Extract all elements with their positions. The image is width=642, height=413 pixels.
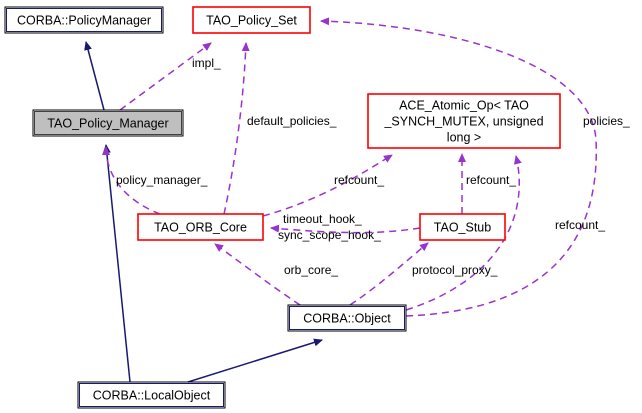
- edge-label-refcount-right: refcount_: [555, 218, 605, 232]
- edge-label-policies: policies_: [583, 114, 630, 128]
- edge-impl: [120, 43, 211, 110]
- node-label-policymanager: CORBA::PolicyManager: [17, 13, 151, 27]
- edge-label-orb-core: orb_core_: [284, 263, 338, 277]
- edge-localobject-to-object: [188, 340, 322, 382]
- edge-label-impl: impl_: [192, 56, 221, 70]
- node-policymanager[interactable]: CORBA::PolicyManager: [5, 7, 163, 33]
- node-label-localobject: CORBA::LocalObject: [93, 388, 211, 402]
- node-label-atomicop-line3: long >: [447, 130, 481, 144]
- node-label-policymgr: TAO_Policy_Manager: [47, 116, 168, 130]
- edge-label-sync-scope-hook: sync_scope_hook_: [278, 228, 381, 242]
- node-policymgr[interactable]: TAO_Policy_Manager: [33, 110, 183, 136]
- node-label-stub: TAO_Stub: [434, 220, 491, 234]
- node-orbcore[interactable]: TAO_ORB_Core: [138, 214, 263, 240]
- edge-label-refcount-left: refcount_: [334, 173, 384, 187]
- node-atomicop[interactable]: ACE_Atomic_Op< TAO _SYNCH_MUTEX, unsigne…: [368, 94, 560, 148]
- node-label-orbcore: TAO_ORB_Core: [154, 220, 247, 234]
- edge-policymgr-to-policymanager: [86, 42, 104, 110]
- node-stub[interactable]: TAO_Stub: [420, 214, 505, 240]
- node-label-atomicop-line1: ACE_Atomic_Op< TAO: [399, 98, 529, 112]
- node-label-atomicop-line2: _SYNCH_MUTEX, unsigned: [383, 114, 543, 128]
- node-object[interactable]: CORBA::Object: [288, 305, 406, 331]
- node-localobject[interactable]: CORBA::LocalObject: [78, 382, 225, 408]
- edge-default-policies: [224, 43, 246, 214]
- node-label-policyset: TAO_Policy_Set: [206, 13, 297, 27]
- edge-label-timeout-hook: timeout_hook_: [283, 212, 362, 226]
- edge-label-default-policies: default_policies_: [247, 114, 337, 128]
- collaboration-diagram: CORBA::PolicyManager TAO_Policy_Set TAO_…: [0, 0, 642, 413]
- edge-label-protocol-proxy: protocol_proxy_: [412, 263, 498, 277]
- edge-label-policy-manager: policy_manager_: [116, 173, 208, 187]
- node-label-object: CORBA::Object: [303, 311, 391, 325]
- edge-label-refcount-mid: refcount_: [466, 173, 516, 187]
- edge-layer-usage: [106, 21, 596, 316]
- node-policyset[interactable]: TAO_Policy_Set: [193, 7, 310, 33]
